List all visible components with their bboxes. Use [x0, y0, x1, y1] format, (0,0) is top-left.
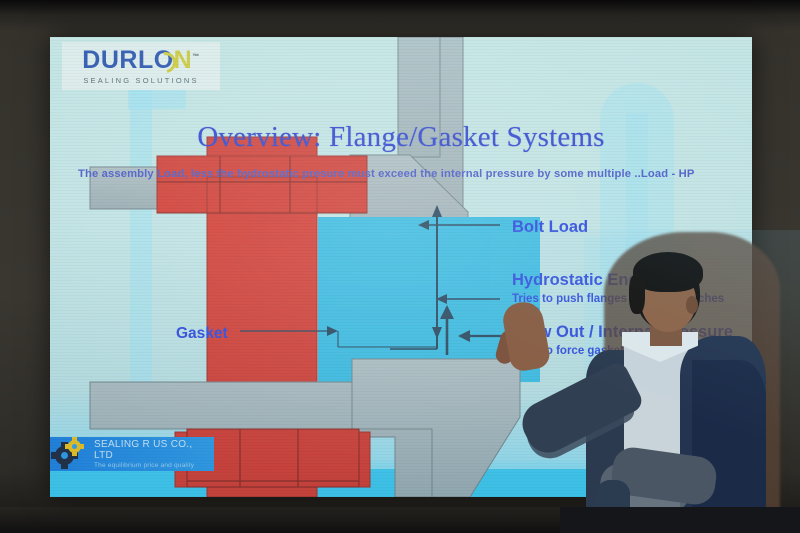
logo-n: N [174, 46, 193, 74]
lower-flange-hub [352, 359, 520, 497]
logo-o: O [154, 48, 174, 73]
logo-l: L [138, 46, 154, 74]
durlon-logo: DURLON™ SEALING SOLUTIONS [62, 42, 220, 90]
presenter-ear [686, 296, 698, 314]
callout-gasket: Gasket [176, 325, 228, 343]
gears-icon [54, 439, 88, 469]
presenter-hair-side [629, 274, 645, 314]
logo-dur: DUR [82, 46, 138, 74]
trademark-icon: ™ [192, 53, 200, 60]
durlon-wordmark: DURLON™ [82, 48, 199, 73]
screenshot-root: DURLON™ SEALING SOLUTIONS Overview: Flan… [0, 0, 800, 533]
gear-dark-hole [61, 452, 68, 459]
company-tagline: The equilibrium price and quality [94, 462, 214, 469]
slide-subtitle: The assembly Load, less the hydrostatic … [78, 168, 752, 180]
foreground-dark-strip [560, 507, 800, 533]
company-footer-badge: SEALING R US CO., LTD The equilibrium pr… [50, 437, 214, 471]
callout-bolt-load: Bolt Load [512, 218, 588, 237]
company-footer-text: SEALING R US CO., LTD The equilibrium pr… [94, 439, 214, 469]
slide-title: Overview: Flange/Gasket Systems [50, 121, 752, 154]
logo-tagline: SEALING SOLUTIONS [83, 76, 198, 85]
ceiling-bar [0, 0, 800, 14]
company-name: SEALING R US CO., LTD [94, 439, 214, 461]
gear-yellow-hole [72, 444, 77, 449]
